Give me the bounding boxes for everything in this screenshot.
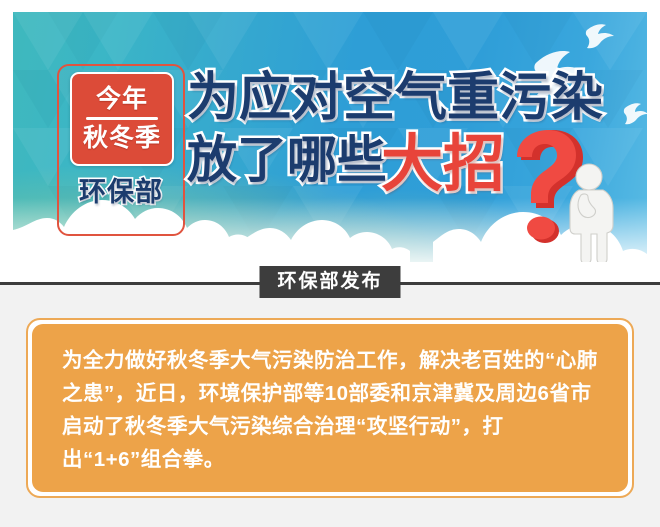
badge-line-year: 今年 — [96, 87, 148, 117]
section-label-badge: 环保部发布 — [259, 266, 400, 298]
headline-line-2-navy-text: 放了哪些 — [187, 132, 387, 188]
headline-line-2-red-text: 大招 — [381, 130, 505, 199]
headline-line-1: 为应对空气重污染 — [187, 72, 607, 124]
badge-department-label: 环保部 — [57, 170, 185, 209]
intro-box: 为全力做好秋冬季大气污染防治工作，解决老百姓的“心肺之患”，近日，环境保护部等1… — [32, 324, 628, 492]
banner-artwork: 今年 秋冬季 环保部 为应对空气重污染 放了哪些大招 — [13, 12, 647, 262]
headline-line-1-text: 为应对空气重污染 — [187, 69, 603, 127]
banner-container: 今年 秋冬季 环保部 为应对空气重污染 放了哪些大招 — [0, 0, 660, 285]
thinking-person-icon — [557, 162, 627, 262]
season-badge: 今年 秋冬季 — [70, 72, 174, 166]
badge-line-season: 秋冬季 — [83, 120, 161, 151]
intro-paragraph: 为全力做好秋冬季大气污染防治工作，解决老百姓的“心肺之患”，近日，环境保护部等1… — [62, 344, 598, 476]
infographic-page: 今年 秋冬季 环保部 为应对空气重污染 放了哪些大招 — [0, 0, 660, 527]
